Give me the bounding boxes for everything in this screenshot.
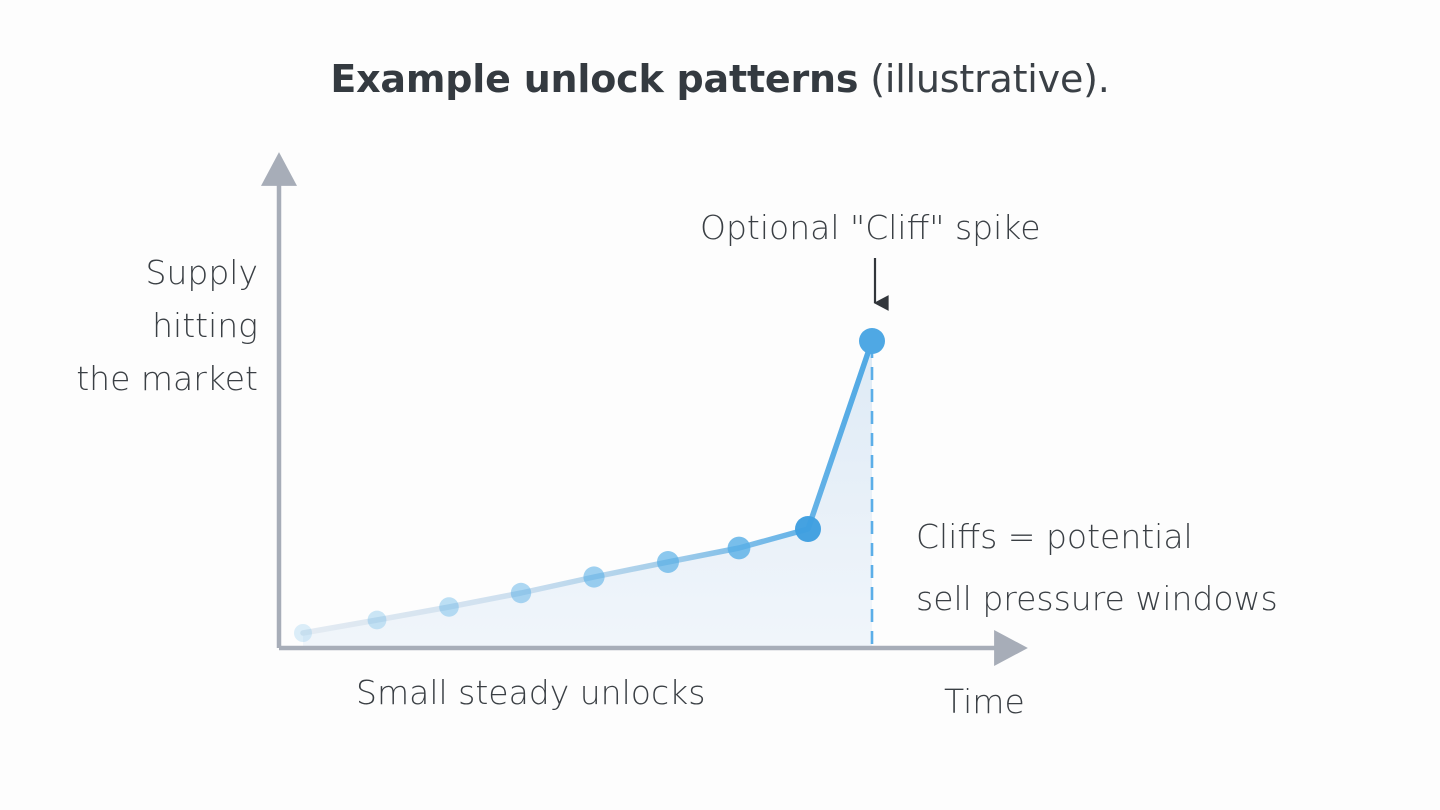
data-point-marker (583, 566, 604, 587)
steady-unlocks-label: Small steady unlocks (356, 671, 705, 715)
chart-svg (0, 0, 1440, 810)
unlock-pattern-chart: Supply hitting the market Optional "Clif… (0, 0, 1440, 810)
data-point-marker (795, 516, 821, 542)
y-axis-label: Supply hitting the market (0, 246, 258, 405)
slide-canvas: Example unlock patterns (illustrative). (0, 0, 1440, 810)
data-point-marker (511, 583, 531, 603)
cliff-peak-marker (859, 328, 885, 354)
cliff-note-line2: sell pressure windows (916, 568, 1346, 630)
data-point-marker (439, 597, 459, 617)
y-axis-label-line3: the market (0, 352, 258, 405)
data-point-marker (368, 611, 387, 630)
y-axis-label-line1: Supply (0, 246, 258, 299)
chart-area-fill (303, 341, 872, 648)
data-point-marker (294, 624, 312, 642)
cliff-note-line1: Cliffs = potential (916, 506, 1346, 568)
cliff-spike-annotation: Optional "Cliff" spike (700, 206, 1041, 250)
data-point-marker (657, 551, 679, 573)
data-point-marker (728, 537, 751, 560)
y-axis-label-line2: hitting (0, 299, 258, 352)
x-axis-label: Time (944, 680, 1025, 724)
cliff-explanation-note: Cliffs = potential sell pressure windows (916, 506, 1346, 630)
